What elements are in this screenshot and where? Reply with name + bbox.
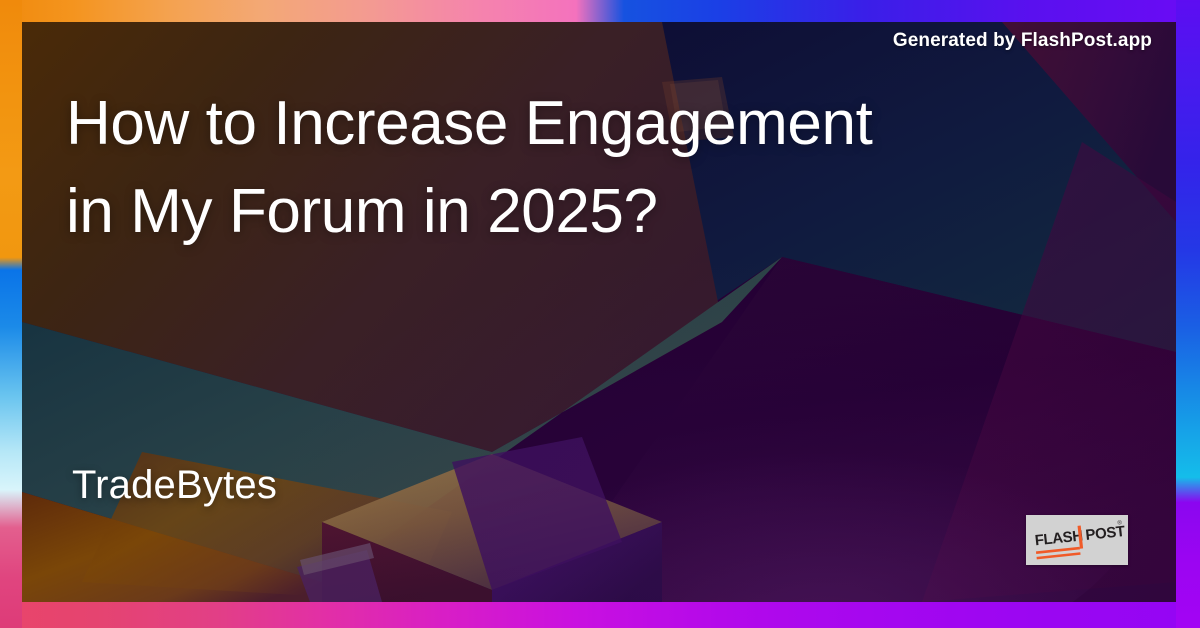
frame-bottom-gradient [0,602,1200,628]
headline-line-2: in My Forum in 2025? [66,168,1076,256]
page-title: How to Increase Engagement in My Forum i… [66,80,1076,256]
frame-left-gradient [0,0,22,628]
social-share-card: Generated by FlashPost.app How to Increa… [0,0,1200,628]
frame-right-gradient [1176,0,1200,628]
site-name-label: TradeBytes [72,463,277,508]
headline-line-1: How to Increase Engagement [66,80,1076,168]
card-content: Generated by FlashPost.app How to Increa… [22,22,1176,602]
frame-top-gradient [0,0,1200,22]
attribution-label: Generated by FlashPost.app [893,30,1152,52]
